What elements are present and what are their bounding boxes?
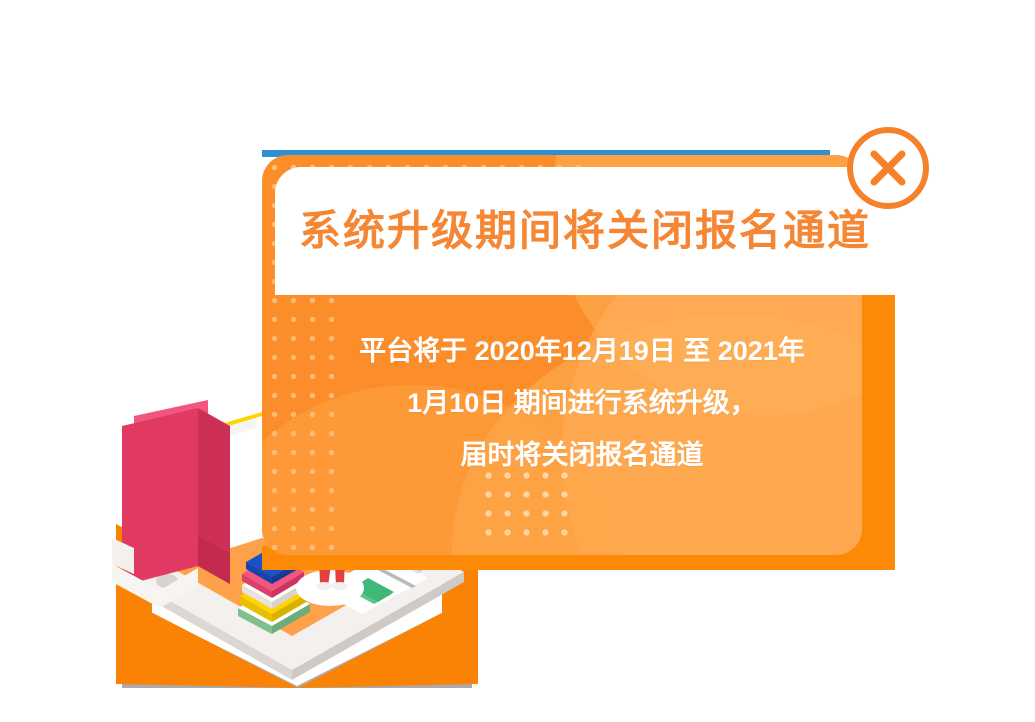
notice-body: 平台将于 2020年12月19日 至 2021年 1月10日 期间进行系统升级，… bbox=[302, 325, 862, 481]
notice-body-line-1: 平台将于 2020年12月19日 至 2021年 bbox=[302, 325, 862, 377]
notice-body-line-2: 1月10日 期间进行系统升级， bbox=[302, 377, 862, 429]
page-title: 系统升级期间将关闭报名通道 bbox=[299, 210, 871, 252]
close-x-icon bbox=[865, 145, 911, 191]
screenshot-root: 系统升级期间将关闭报名通道 平台将于 2020年12月19日 至 2021年 1… bbox=[0, 0, 1035, 722]
title-card: 系统升级期间将关闭报名通道 bbox=[275, 167, 895, 295]
notice-body-line-3: 届时将关闭报名通道 bbox=[302, 429, 862, 481]
close-button[interactable] bbox=[847, 127, 929, 209]
notification-panel: 系统升级期间将关闭报名通道 平台将于 2020年12月19日 至 2021年 1… bbox=[262, 150, 895, 570]
